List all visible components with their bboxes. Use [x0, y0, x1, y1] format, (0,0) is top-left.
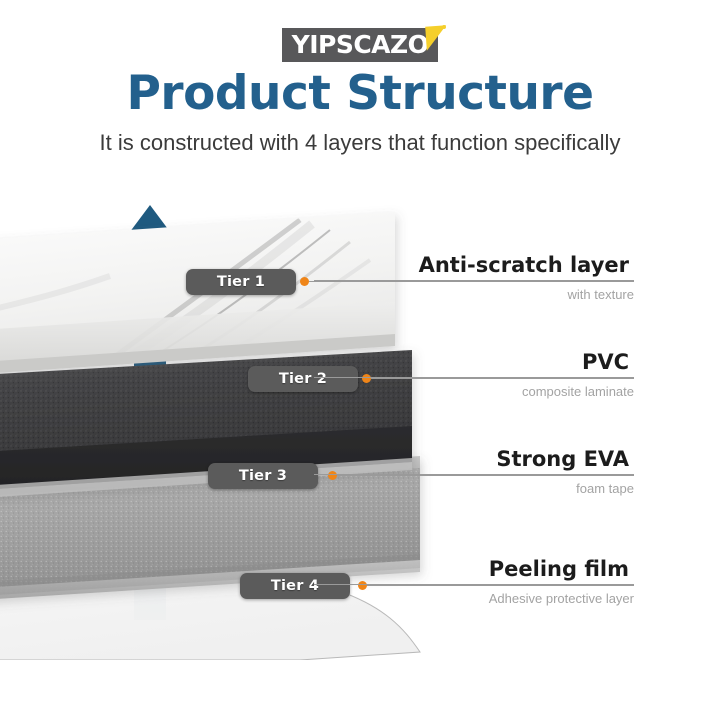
infographic-page: YIPSCAZO Product Structure It is constru… [0, 0, 720, 720]
layer-label-pvc: PVC composite laminate [314, 350, 634, 399]
label-rule-1 [314, 280, 634, 281]
page-title: Product Structure [0, 66, 720, 121]
layer-label-eva-sub: foam tape [314, 481, 634, 496]
tier-badge-3[interactable]: Tier 3 [208, 463, 318, 489]
tier-dot-1 [300, 277, 309, 286]
layer-label-anti-scratch-sub: with texture [314, 287, 634, 302]
tier-badge-3-label: Tier 3 [239, 468, 287, 484]
layer-label-peeling-film-sub: Adhesive protective layer [314, 591, 634, 606]
label-rule-4 [314, 584, 634, 585]
layer-label-anti-scratch: Anti-scratch layer with texture [314, 253, 634, 302]
layer-label-eva-title: Strong EVA [496, 447, 634, 471]
page-subtitle: It is constructed with 4 layers that fun… [0, 130, 720, 156]
layer-label-peeling-film: Peeling film Adhesive protective layer [314, 557, 634, 606]
layer-label-eva: Strong EVA foam tape [314, 447, 634, 496]
tier-badge-1[interactable]: Tier 1 [186, 269, 296, 295]
layer-label-anti-scratch-title: Anti-scratch layer [419, 253, 634, 277]
tier-badge-1-label: Tier 1 [217, 274, 265, 290]
layer-label-peeling-film-title: Peeling film [489, 557, 634, 581]
logo-triangle-icon [426, 25, 449, 50]
layer-label-pvc-title: PVC [582, 350, 634, 374]
layer-label-pvc-sub: composite laminate [314, 384, 634, 399]
logo-badge: YIPSCAZO [282, 28, 439, 62]
tier-badge-4-label: Tier 4 [271, 578, 319, 594]
logo-wordmark: YIPSCAZO [292, 32, 429, 57]
label-rule-3 [314, 474, 634, 475]
brand-logo: YIPSCAZO [0, 28, 720, 62]
label-rule-2 [314, 377, 634, 378]
